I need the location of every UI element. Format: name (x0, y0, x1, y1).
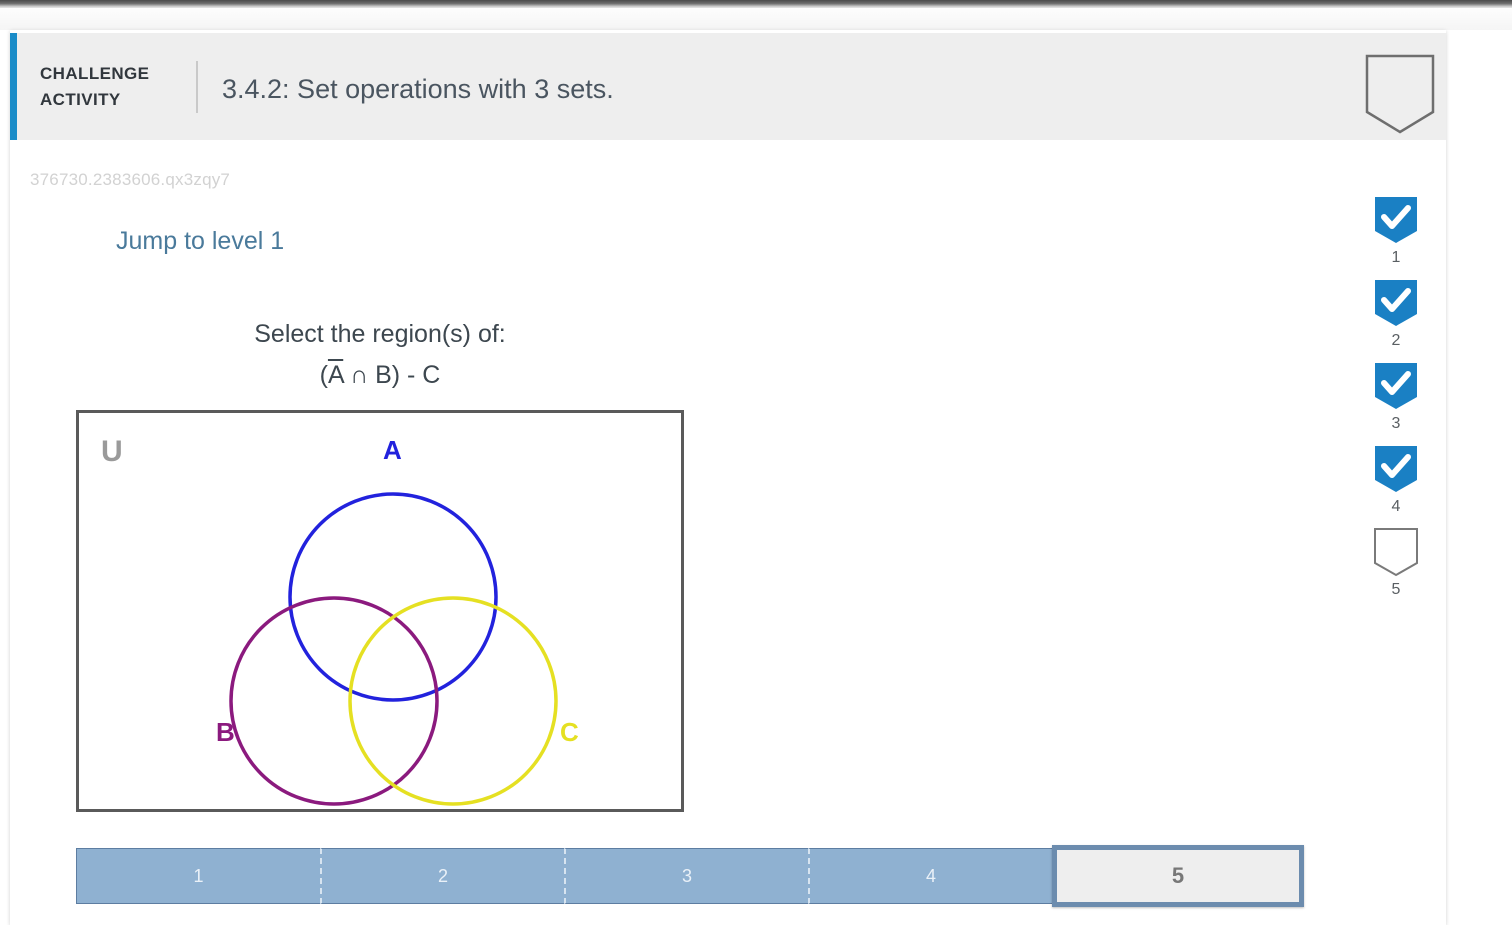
set-a-label: A (383, 435, 402, 465)
jump-to-level-link[interactable]: Jump to level 1 (116, 227, 284, 256)
level-indicator-number: 5 (1368, 580, 1424, 600)
set-b-label: B (216, 717, 235, 747)
challenge-activity-label: CHALLENGE ACTIVITY (40, 61, 180, 113)
level-indicator-number: 3 (1368, 414, 1424, 434)
prompt-instruction: Select the region(s) of: (70, 313, 690, 355)
check-shield-icon (1373, 278, 1419, 328)
progress-segment-label: 2 (438, 866, 448, 887)
level-indicator-4[interactable]: 4 (1368, 444, 1424, 517)
level-indicator-number: 1 (1368, 248, 1424, 268)
question-identifier: 376730.2383606.qx3zqy7 (30, 170, 230, 190)
progress-segment-label: 1 (193, 866, 203, 887)
progress-segment-2[interactable]: 2 (320, 848, 564, 904)
check-shield-icon (1373, 444, 1419, 494)
progress-segment-3[interactable]: 3 (564, 848, 808, 904)
browser-chrome-gap (0, 8, 1512, 30)
progress-segment-label: 4 (926, 866, 936, 887)
check-shield-icon (1373, 195, 1419, 245)
venn-diagram[interactable]: U A B C (76, 410, 684, 812)
level-indicator-5[interactable]: 5 (1368, 527, 1424, 600)
set-b-circle[interactable] (231, 598, 437, 804)
activity-header: CHALLENGE ACTIVITY 3.4.2: Set operations… (10, 33, 1446, 140)
empty-shield-icon (1365, 54, 1435, 139)
progress-segment-4[interactable]: 4 (808, 848, 1052, 904)
expression-suffix: ∩ B) - C (343, 361, 440, 389)
challenge-activity-label-line2: ACTIVITY (40, 87, 180, 113)
check-shield-icon (1373, 361, 1419, 411)
level-indicator-1[interactable]: 1 (1368, 195, 1424, 268)
universe-label: U (101, 435, 123, 468)
progress-segment-label: 5 (1172, 863, 1184, 889)
challenge-activity-label-line1: CHALLENGE (40, 61, 180, 87)
level-indicator-3[interactable]: 3 (1368, 361, 1424, 434)
level-indicator-2[interactable]: 2 (1368, 278, 1424, 351)
browser-chrome-strip (0, 0, 1512, 8)
set-c-label: C (560, 717, 579, 747)
level-completion-rail: 12345 (1368, 195, 1424, 610)
question-prompt: Select the region(s) of: (A ∩ B) - C (70, 313, 690, 395)
page-title: 3.4.2: Set operations with 3 sets. (222, 74, 614, 105)
header-accent-bar (10, 33, 17, 140)
challenge-activity-card: CHALLENGE ACTIVITY 3.4.2: Set operations… (10, 30, 1446, 925)
expression-complement-a: A (328, 361, 343, 389)
level-indicator-number: 4 (1368, 497, 1424, 517)
level-progress-bar: 12345 (76, 845, 1304, 907)
header-divider (196, 61, 198, 113)
progress-segment-label: 3 (682, 866, 692, 887)
level-indicator-number: 2 (1368, 331, 1424, 351)
progress-segment-5[interactable]: 5 (1052, 845, 1304, 907)
empty-shield-icon (1373, 527, 1419, 577)
prompt-expression: (A ∩ B) - C (70, 355, 690, 395)
expression-prefix: ( (320, 361, 328, 389)
progress-segment-1[interactable]: 1 (76, 848, 320, 904)
